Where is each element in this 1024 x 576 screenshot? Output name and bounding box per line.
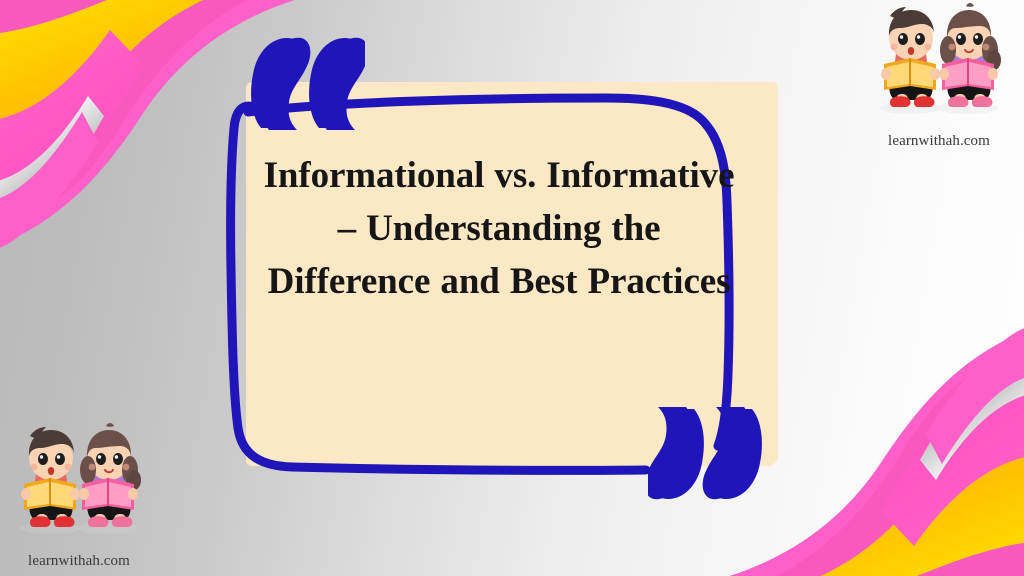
- wave-gold: [0, 0, 208, 220]
- girl-figure: [78, 423, 141, 534]
- wave-pink-front: [926, 326, 1024, 464]
- close-quote-icon: [648, 405, 766, 501]
- kids-reading-icon: [866, 2, 1012, 122]
- site-name-label: learnwithah.com: [866, 133, 1012, 150]
- boy-figure: [880, 7, 940, 114]
- poster-canvas: Informational vs. Informative – Understa…: [0, 0, 1024, 576]
- wave-pink-front: [0, 112, 98, 250]
- kids-reading-icon: [6, 422, 152, 542]
- open-quote-icon: [247, 36, 365, 132]
- wave-silver: [920, 334, 1024, 480]
- boy-figure: [20, 427, 80, 534]
- watermark-logo-bottom-left: learnwithah.com: [6, 422, 152, 572]
- watermark-logo-top-right: learnwithah.com: [866, 2, 1012, 152]
- wave-pink-mid: [0, 30, 144, 244]
- wave-pink-mid: [880, 332, 1024, 546]
- wave-silver: [0, 96, 104, 242]
- wave-gold: [816, 356, 1024, 576]
- girl-figure: [938, 3, 1001, 114]
- quote-title-block: Informational vs. Informative – Understa…: [258, 150, 740, 309]
- site-name-label: learnwithah.com: [6, 553, 152, 570]
- page-title: Informational vs. Informative – Understa…: [258, 150, 740, 309]
